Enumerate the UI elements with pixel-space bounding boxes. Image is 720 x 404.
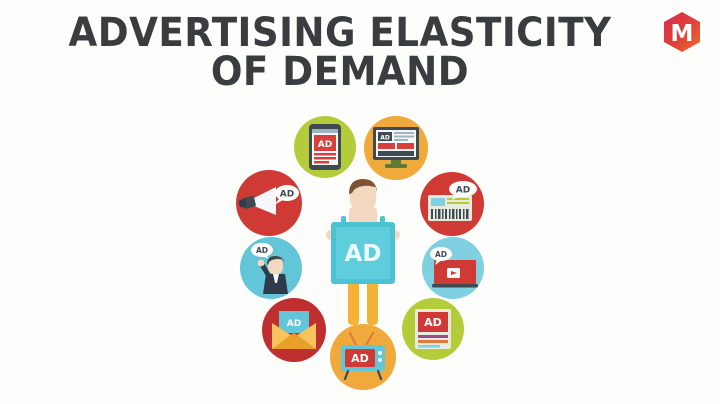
node-magazine-ad[interactable]: AD [402, 298, 464, 360]
video-screen-icon: AD [428, 246, 478, 290]
node-megaphone-ad[interactable]: AD [236, 170, 302, 236]
businessman-icon: AD [248, 242, 294, 294]
person-holding-ad-board: AD [317, 174, 409, 326]
envelope-icon: AD [270, 309, 318, 351]
slide-canvas: ADVERTISING ELASTICITY OF DEMAND M [0, 0, 720, 404]
node-video-ad[interactable]: AD [422, 237, 484, 299]
megaphone-icon: AD [238, 180, 300, 226]
person-left-leg [348, 278, 359, 325]
node-television-icon-wrap: AD [330, 324, 396, 390]
megaphone-ad-label: AD [280, 190, 294, 200]
advertising-channels-illustration: AD AD [222, 112, 500, 392]
node-businessman-icon-wrap: AD [240, 237, 302, 299]
node-envelope-icon-wrap: AD [262, 298, 326, 362]
person-right-leg [367, 278, 378, 325]
newspaper-icon: AD [426, 181, 478, 227]
node-magazine-icon-wrap: AD [402, 298, 464, 360]
television-icon: AD [338, 331, 388, 383]
node-word-of-mouth-ad[interactable]: AD [240, 237, 302, 299]
logo-letter: M [671, 21, 694, 47]
node-megaphone-icon-wrap: AD [236, 170, 302, 236]
node-monitor-icon-wrap: AD [364, 116, 428, 180]
node-email-ad[interactable]: AD [262, 298, 326, 362]
marketing91-logo[interactable]: M [662, 11, 702, 53]
smartphone-icon: AD [308, 123, 342, 171]
smartphone-ad-label: AD [318, 140, 332, 150]
ad-board-label: AD [345, 241, 382, 267]
television-ad-label: AD [351, 352, 369, 365]
monitor-ad-label: AD [380, 135, 390, 142]
node-smartphone-ad[interactable]: AD [294, 116, 356, 178]
node-newspaper-icon-wrap: AD [420, 172, 484, 236]
magazine-ad-label: AD [424, 316, 442, 329]
magazine-icon: AD [413, 307, 453, 351]
newspaper-ad-label: AD [456, 186, 470, 196]
page-title-line-2: OF DEMAND [61, 53, 619, 92]
node-newspaper-ad[interactable]: AD [420, 172, 484, 236]
node-smartphone-icon-wrap: AD [294, 116, 356, 178]
page-title-line-1: ADVERTISING ELASTICITY [61, 14, 619, 53]
node-television-ad[interactable]: AD [330, 324, 396, 390]
node-video-icon-wrap: AD [422, 237, 484, 299]
video-ad-label: AD [435, 250, 447, 259]
businessman-ad-label: AD [256, 246, 268, 255]
monitor-icon: AD [372, 126, 420, 170]
node-desktop-monitor-ad[interactable]: AD [364, 116, 428, 180]
page-title: ADVERTISING ELASTICITY OF DEMAND [61, 14, 619, 92]
